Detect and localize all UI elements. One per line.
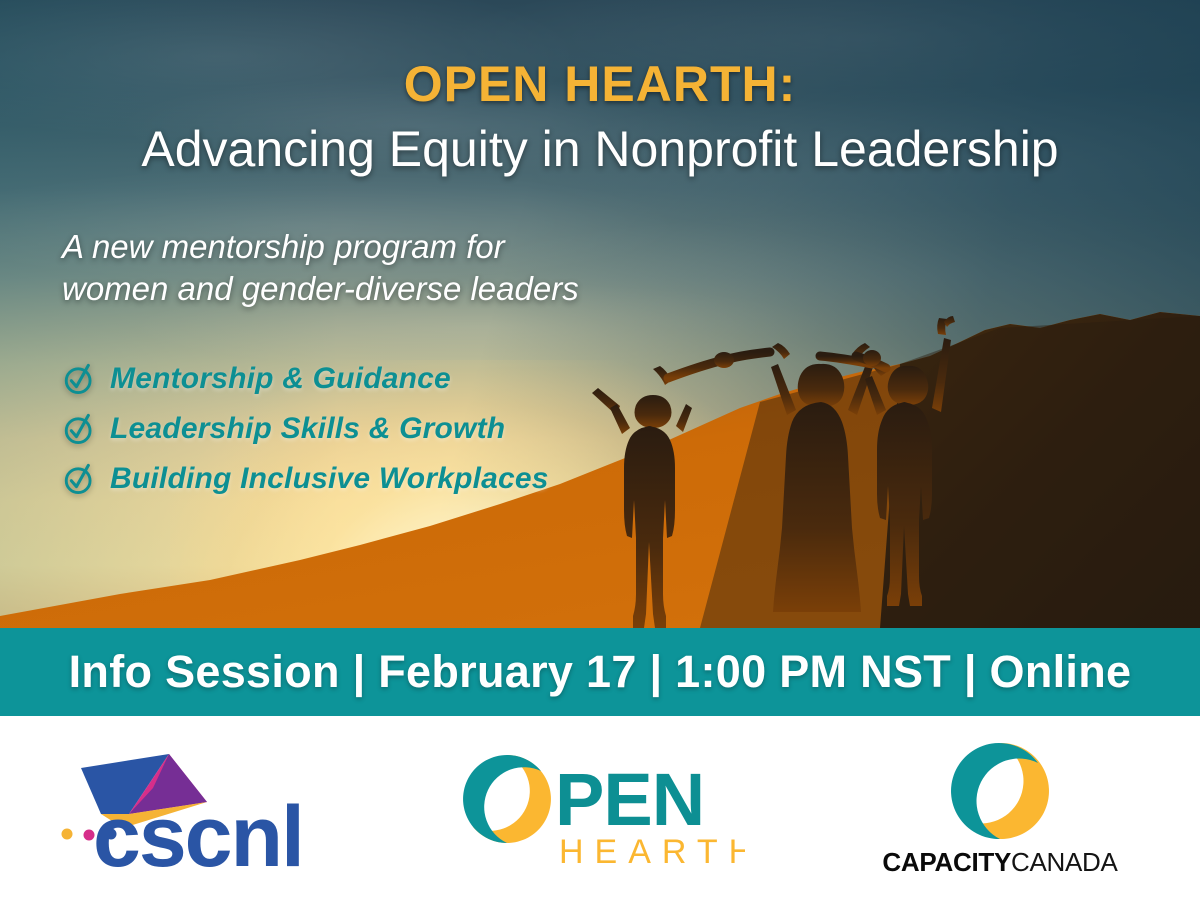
open-wordmark-bottom: HEARTH: [559, 833, 745, 869]
headline-highlight: OPEN HEARTH:: [0, 58, 1200, 111]
headline-block: OPEN HEARTH: Advancing Equity in Nonprof…: [0, 58, 1200, 182]
interlocking-circles-icon: [948, 739, 1052, 843]
benefits-list: Mentorship & Guidance Leadership Skills …: [62, 358, 549, 508]
event-info-text: Info Session | February 17 | 1:00 PM NST…: [69, 646, 1132, 698]
subtitle-line-2: women and gender-diverse leaders: [62, 268, 579, 310]
hero-photo: OPEN HEARTH: Advancing Equity in Nonprof…: [0, 0, 1200, 628]
capacity-canada-logo: CAPACITYCANADA: [800, 716, 1200, 900]
list-item: Leadership Skills & Growth: [62, 408, 549, 450]
capacity-word-light: CANADA: [1011, 847, 1118, 877]
promo-poster: OPEN HEARTH: Advancing Equity in Nonprof…: [0, 0, 1200, 900]
capacity-word-bold: CAPACITY: [882, 847, 1011, 877]
capacity-canada-wordmark: CAPACITYCANADA: [882, 847, 1117, 878]
list-item: Building Inclusive Workplaces: [62, 458, 549, 500]
list-item: Mentorship & Guidance: [62, 358, 549, 400]
list-item-label: Mentorship & Guidance: [110, 362, 451, 396]
interlocking-circles-icon: [463, 755, 551, 843]
open-hearth-logo-graphic: PEN HEARTH: [455, 747, 745, 869]
open-hearth-logo: PEN HEARTH: [400, 716, 800, 900]
subtitle-block: A new mentorship program for women and g…: [62, 226, 579, 310]
list-item-label: Leadership Skills & Growth: [110, 412, 505, 446]
check-circle-icon: [62, 462, 96, 496]
headline-main: Advancing Equity in Nonprofit Leadership: [0, 117, 1200, 182]
cscnl-logo-graphic: cscnl: [57, 744, 343, 872]
subtitle-line-1: A new mentorship program for: [62, 226, 579, 268]
cscnl-wordmark: cscnl: [93, 789, 303, 872]
check-circle-icon: [62, 412, 96, 446]
list-item-label: Building Inclusive Workplaces: [110, 462, 549, 496]
event-info-bar: Info Session | February 17 | 1:00 PM NST…: [0, 628, 1200, 716]
cscnl-logo: cscnl: [0, 716, 400, 900]
logo-footer: cscnl PEN HEARTH CAPACITY: [0, 716, 1200, 900]
open-wordmark-top: PEN: [555, 758, 704, 841]
check-circle-icon: [62, 362, 96, 396]
